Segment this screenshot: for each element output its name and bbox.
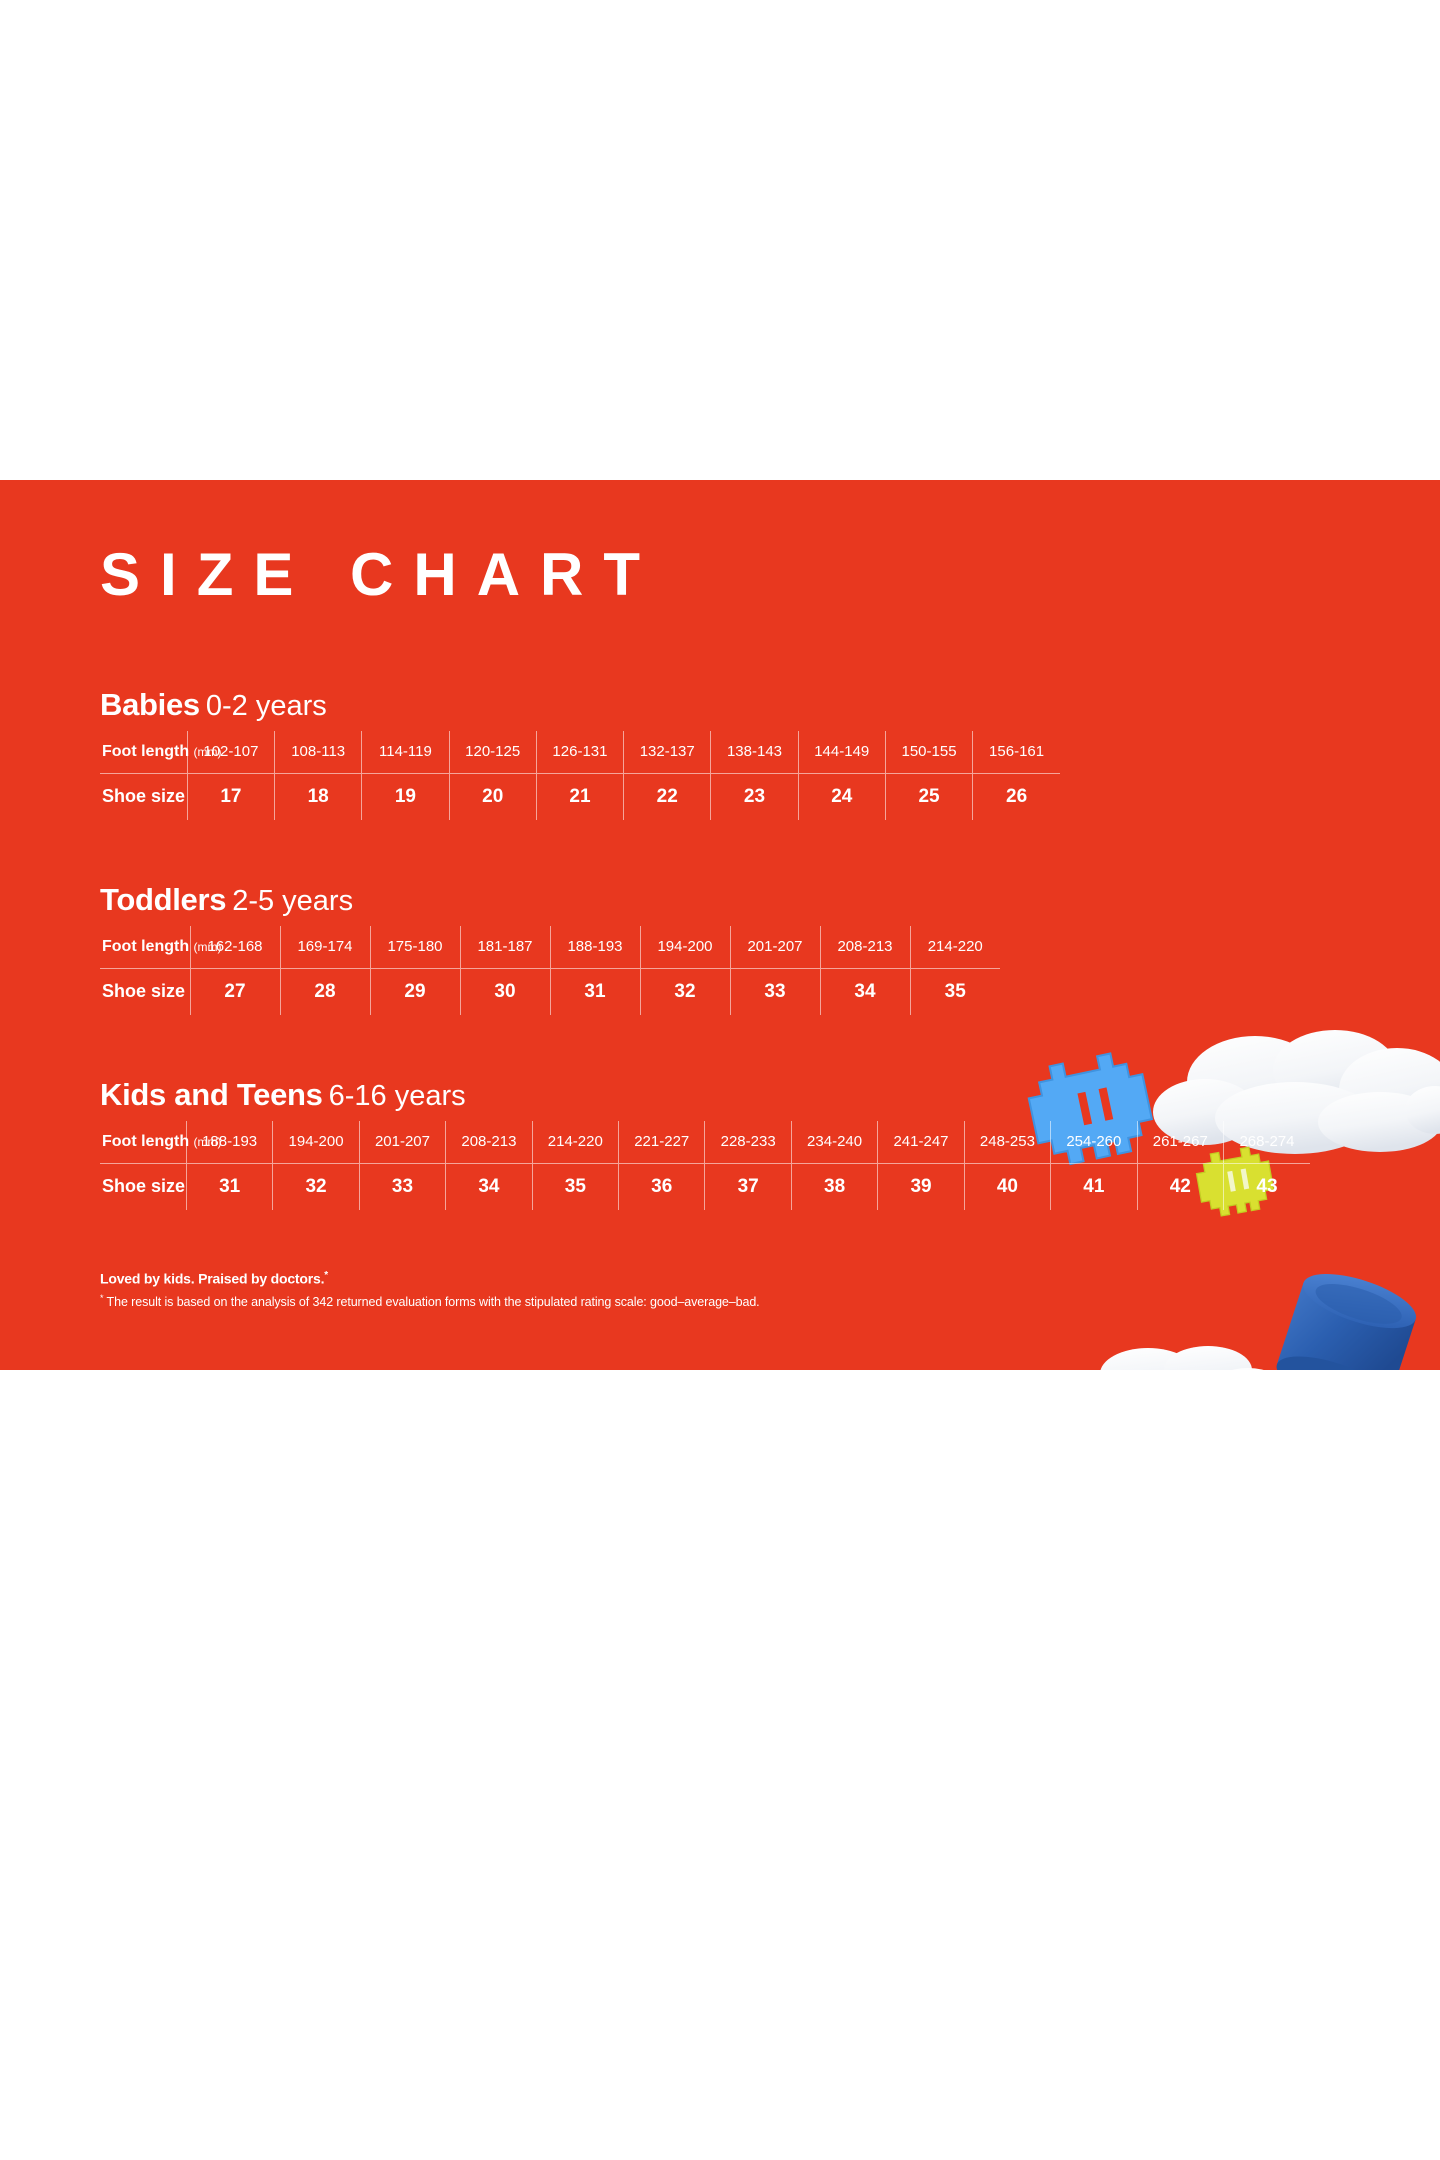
table-row: Shoe size 31 32 33 34 35 36 37 38 39 40 …: [100, 1163, 1310, 1210]
cell-shoe-size: 41: [1051, 1163, 1137, 1210]
cell-foot-length: 208-213: [446, 1121, 532, 1164]
cell-shoe-size: 19: [362, 773, 449, 820]
cell-foot-length: 194-200: [640, 926, 730, 969]
cell-shoe-size: 29: [370, 968, 460, 1015]
cell-shoe-size: 43: [1223, 1163, 1310, 1210]
toy-block-icon: [1185, 1255, 1440, 1370]
cell-shoe-size: 28: [280, 968, 370, 1015]
cell-shoe-size: 42: [1137, 1163, 1223, 1210]
foot-length-text: Foot length: [102, 1133, 189, 1150]
cell-foot-length: 169-174: [280, 926, 370, 969]
size-table-kids: Foot length (mm) 188-193 194-200 201-207…: [100, 1121, 1310, 1210]
row-label-foot-length: Foot length (mm): [100, 1121, 186, 1164]
cell-shoe-size: 17: [187, 773, 274, 820]
cell-foot-length: 268-274: [1223, 1121, 1310, 1164]
row-label-shoe-size: Shoe size: [100, 773, 187, 820]
section-group-label: Toddlers: [100, 882, 226, 917]
cell-shoe-size: 33: [359, 1163, 445, 1210]
cell-foot-length: 175-180: [370, 926, 460, 969]
cell-shoe-size: 35: [910, 968, 1000, 1015]
cell-shoe-size: 37: [705, 1163, 791, 1210]
section-toddlers: Toddlers2-5 years Foot length (mm) 162-1…: [100, 883, 1000, 1015]
cell-shoe-size: 34: [820, 968, 910, 1015]
cell-foot-length: 120-125: [449, 731, 536, 774]
section-age-label: 6-16 years: [329, 1080, 466, 1112]
cell-shoe-size: 34: [446, 1163, 532, 1210]
cell-shoe-size: 18: [275, 773, 362, 820]
cell-foot-length: 201-207: [359, 1121, 445, 1164]
cell-foot-length: 156-161: [973, 731, 1060, 774]
footnote-note-text: The result is based on the analysis of 3…: [103, 1295, 759, 1309]
cell-foot-length: 261-267: [1137, 1121, 1223, 1164]
cell-shoe-size: 27: [190, 968, 280, 1015]
cell-shoe-size: 31: [550, 968, 640, 1015]
section-age-label: 2-5 years: [232, 885, 353, 917]
cell-shoe-size: 32: [273, 1163, 359, 1210]
cell-shoe-size: 38: [791, 1163, 877, 1210]
row-label-foot-length: Foot length (mm): [100, 731, 187, 774]
cell-shoe-size: 31: [186, 1163, 272, 1210]
cell-foot-length: 194-200: [273, 1121, 359, 1164]
size-table-toddlers: Foot length (mm) 162-168 169-174 175-180…: [100, 926, 1000, 1015]
section-age-label: 0-2 years: [206, 690, 327, 722]
cell-shoe-size: 24: [798, 773, 885, 820]
cell-shoe-size: 22: [624, 773, 711, 820]
cell-shoe-size: 25: [885, 773, 972, 820]
footnote-tagline-marker: *: [324, 1270, 328, 1281]
cell-foot-length: 138-143: [711, 731, 798, 774]
footnote: Loved by kids. Praised by doctors.* * Th…: [100, 1270, 760, 1309]
cell-foot-length: 248-253: [964, 1121, 1050, 1164]
cell-shoe-size: 20: [449, 773, 536, 820]
cell-foot-length: 208-213: [820, 926, 910, 969]
cell-shoe-size: 35: [532, 1163, 618, 1210]
table-row: Foot length (mm) 162-168 169-174 175-180…: [100, 926, 1000, 969]
cell-shoe-size: 33: [730, 968, 820, 1015]
cell-shoe-size: 21: [536, 773, 623, 820]
row-label-shoe-size: Shoe size: [100, 1163, 186, 1210]
foot-length-text: Foot length: [102, 743, 189, 760]
table-row: Foot length (mm) 188-193 194-200 201-207…: [100, 1121, 1310, 1164]
cell-foot-length: 144-149: [798, 731, 885, 774]
cell-foot-length: 221-227: [619, 1121, 705, 1164]
section-group-label: Kids and Teens: [100, 1077, 323, 1112]
row-label-foot-length: Foot length (mm): [100, 926, 190, 969]
cell-shoe-size: 32: [640, 968, 730, 1015]
cell-foot-length: 114-119: [362, 731, 449, 774]
section-heading-toddlers: Toddlers2-5 years: [100, 883, 1000, 918]
page-title: SIZE CHART: [100, 545, 660, 605]
cell-foot-length: 181-187: [460, 926, 550, 969]
section-heading-babies: Babies0-2 years: [100, 688, 1060, 723]
cell-foot-length: 241-247: [878, 1121, 964, 1164]
cell-foot-length: 234-240: [791, 1121, 877, 1164]
footnote-note: * The result is based on the analysis of…: [100, 1293, 760, 1309]
cell-foot-length: 150-155: [885, 731, 972, 774]
cell-shoe-size: 26: [973, 773, 1060, 820]
footnote-tagline: Loved by kids. Praised by doctors.*: [100, 1270, 760, 1287]
cell-foot-length: 214-220: [910, 926, 1000, 969]
section-group-label: Babies: [100, 687, 200, 722]
size-chart-panel: SIZE CHART Babies0-2 years Foot length (…: [0, 480, 1440, 1370]
table-row: Shoe size 17 18 19 20 21 22 23 24 25 26: [100, 773, 1060, 820]
section-kids-and-teens: Kids and Teens6-16 years Foot length (mm…: [100, 1078, 1310, 1210]
size-table-babies: Foot length (mm) 102-107 108-113 114-119…: [100, 731, 1060, 820]
cell-foot-length: 132-137: [624, 731, 711, 774]
cloud-icon: [1078, 1340, 1288, 1370]
cell-shoe-size: 30: [460, 968, 550, 1015]
cell-foot-length: 201-207: [730, 926, 820, 969]
cell-foot-length: 214-220: [532, 1121, 618, 1164]
section-heading-kids: Kids and Teens6-16 years: [100, 1078, 1310, 1113]
cell-shoe-size: 23: [711, 773, 798, 820]
table-row: Shoe size 27 28 29 30 31 32 33 34 35: [100, 968, 1000, 1015]
table-row: Foot length (mm) 102-107 108-113 114-119…: [100, 731, 1060, 774]
cell-foot-length: 126-131: [536, 731, 623, 774]
cell-foot-length: 228-233: [705, 1121, 791, 1164]
section-babies: Babies0-2 years Foot length (mm) 102-107…: [100, 688, 1060, 820]
cell-foot-length: 108-113: [275, 731, 362, 774]
cell-shoe-size: 40: [964, 1163, 1050, 1210]
footnote-tagline-text: Loved by kids. Praised by doctors.: [100, 1271, 324, 1287]
foot-length-text: Foot length: [102, 938, 189, 955]
cell-foot-length: 188-193: [550, 926, 640, 969]
row-label-shoe-size: Shoe size: [100, 968, 190, 1015]
cell-shoe-size: 36: [619, 1163, 705, 1210]
cell-foot-length: 254-260: [1051, 1121, 1137, 1164]
cell-shoe-size: 39: [878, 1163, 964, 1210]
